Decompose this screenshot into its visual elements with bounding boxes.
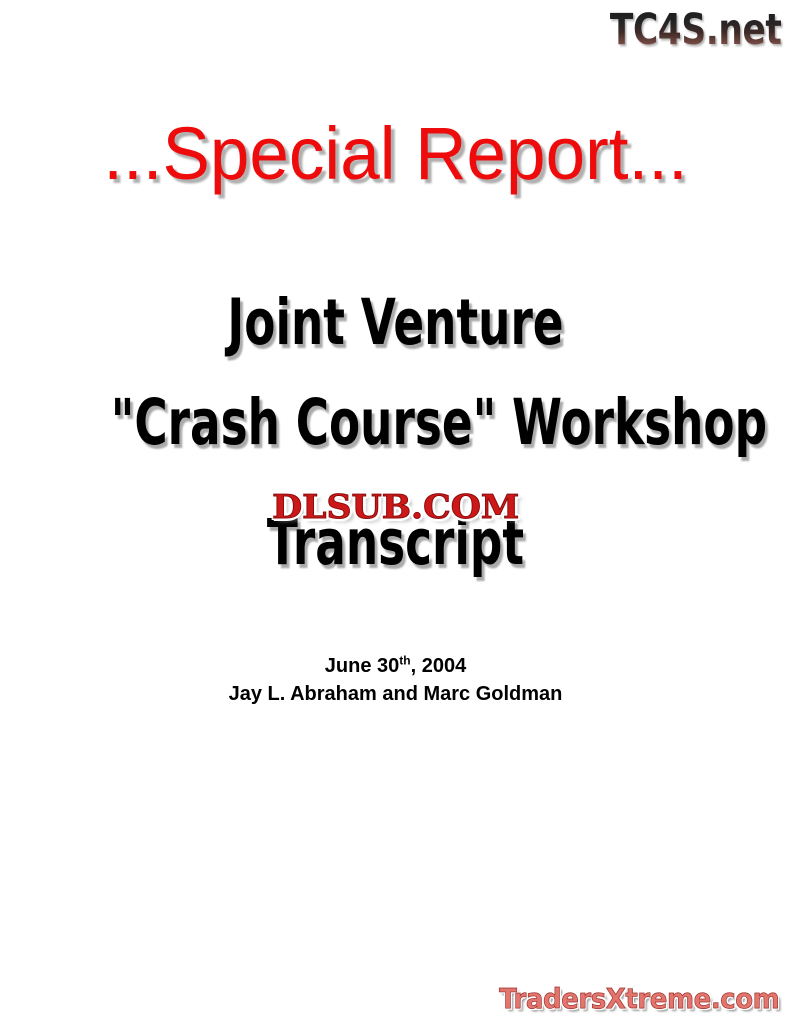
publication-date-ordinal: th [399, 653, 410, 667]
publication-date-prefix: June 30 [325, 655, 399, 677]
tc4s-site-logo: TC4S.net [609, 6, 781, 54]
authors-line: Jay L. Abraham and Marc Goldman [0, 680, 791, 708]
document-page: TC4S.net ...Special Report... Joint Vent… [0, 0, 791, 1024]
cover-title-line-2: "Crash Course" Workshop [111, 388, 681, 458]
tradersxtreme-footer-brand: TradersXtreme.com [499, 982, 779, 1016]
special-report-kicker: ...Special Report... [16, 108, 775, 200]
cover-title-line-3: Transcript [111, 508, 681, 578]
cover-title-line-1: Joint Venture [111, 288, 681, 358]
publication-date: June 30th, 2004 [0, 652, 791, 680]
publication-date-suffix: , 2004 [411, 655, 467, 677]
cover-metadata: June 30th, 2004 Jay L. Abraham and Marc … [0, 652, 791, 708]
